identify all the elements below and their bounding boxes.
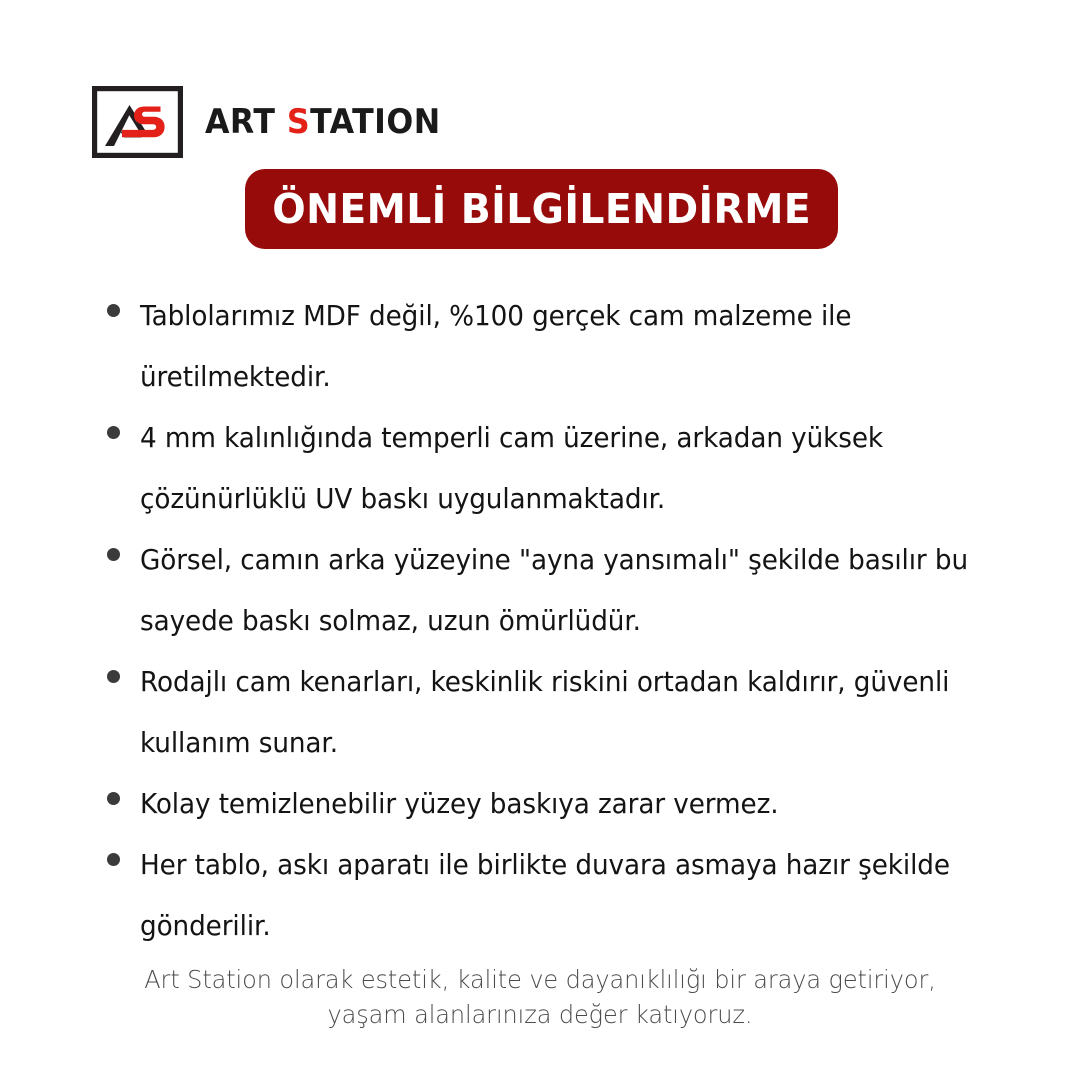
bullet-dot-icon [107,792,120,805]
infographic-page: ART STATION ÖNEMLİ BİLGİLENDİRME Tablola… [0,0,1080,1080]
list-item-text: Görsel, camın arka yüzeyine "ayna yansım… [140,530,994,652]
bullet-dot-icon [107,304,120,317]
brand-wordmark-part1: ART [205,102,287,142]
art-station-monogram-icon [92,86,183,158]
list-item-text: Kolay temizlenebilir yüzey baskıya zarar… [140,774,994,835]
list-item: Her tablo, askı aparatı ile birlikte duv… [104,835,1034,957]
footer-tagline: Art Station olarak estetik, kalite ve da… [0,962,1080,1032]
brand-wordmark: ART STATION [205,105,441,139]
list-item: Rodajlı cam kenarları, keskinlik riskini… [104,652,1034,774]
list-item: Görsel, camın arka yüzeyine "ayna yansım… [104,530,1034,652]
list-item: Kolay temizlenebilir yüzey baskıya zarar… [104,774,1034,835]
bullet-dot-icon [107,853,120,866]
list-item-text: 4 mm kalınlığında temperli cam üzerine, … [140,408,994,530]
brand-wordmark-part2: TATION [310,102,441,142]
footer-tagline-line1: Art Station olarak estetik, kalite ve da… [22,962,1059,997]
bullet-dot-icon [107,426,120,439]
brand-wordmark-accent: S [287,102,310,142]
list-item-text: Her tablo, askı aparatı ile birlikte duv… [140,835,994,957]
list-item-text: Tablolarımız MDF değil, %100 gerçek cam … [140,286,994,408]
list-item: 4 mm kalınlığında temperli cam üzerine, … [104,408,1034,530]
banner-title: ÖNEMLİ BİLGİLENDİRME [272,189,811,230]
list-item-text: Rodajlı cam kenarları, keskinlik riskini… [140,652,994,774]
footer-tagline-line2: yaşam alanlarınıza değer katıyoruz. [22,997,1059,1032]
brand-logo: ART STATION [92,86,458,158]
important-notice-banner: ÖNEMLİ BİLGİLENDİRME [245,169,838,249]
notice-bullet-list: Tablolarımız MDF değil, %100 gerçek cam … [104,286,1034,957]
bullet-dot-icon [107,548,120,561]
list-item: Tablolarımız MDF değil, %100 gerçek cam … [104,286,1034,408]
bullet-dot-icon [107,670,120,683]
